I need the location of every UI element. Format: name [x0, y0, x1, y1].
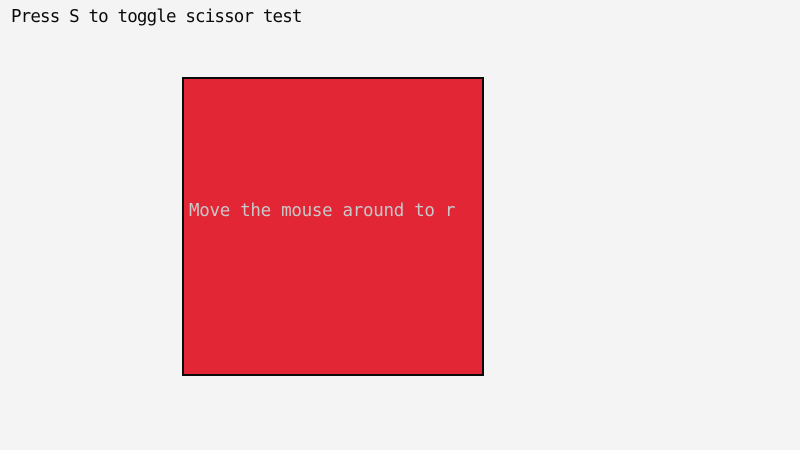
scissor-test-canvas: Press S to toggle scissor test Move the … — [0, 0, 800, 450]
scissor-clipped-text: Move the mouse around to r — [189, 200, 455, 222]
instruction-text: Press S to toggle scissor test — [11, 6, 302, 28]
scissor-rectangle[interactable]: Move the mouse around to r — [182, 77, 484, 376]
